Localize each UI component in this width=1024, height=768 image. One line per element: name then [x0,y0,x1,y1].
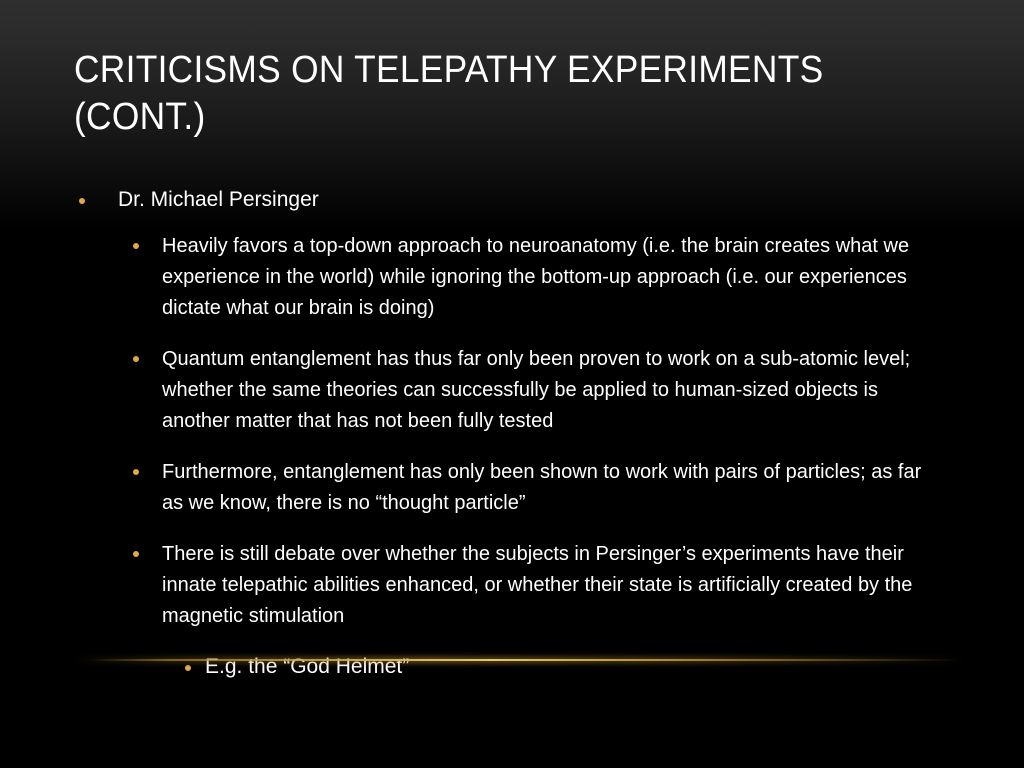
presentation-slide: Criticisms on Telepathy Experiments (con… [0,0,1024,768]
bullet-level1-text: Dr. Michael Persinger [118,185,934,215]
bullet-level2-item: Heavily favors a top-down approach to ne… [0,231,1024,324]
bullet-dot-icon [133,551,139,557]
slide-title: Criticisms on Telepathy Experiments (con… [74,47,892,141]
bullet-level2-item: Quantum entanglement has thus far only b… [0,344,1024,437]
bullet-dot-icon [79,198,85,204]
bullet-dot-icon [185,665,191,671]
bullet-level3-item: E.g. the “God Helmet” [0,652,1024,682]
bullet-dot-icon [133,469,139,475]
bullet-level3-text: E.g. the “God Helmet” [205,652,932,682]
bullet-level2-item: There is still debate over whether the s… [0,539,1024,632]
bullet-level2-item: Furthermore, entanglement has only been … [0,457,1024,519]
bullet-level2-text: Furthermore, entanglement has only been … [162,457,932,519]
bullet-level2-text: Heavily favors a top-down approach to ne… [162,231,932,324]
bullet-level1-item: Dr. Michael Persinger [0,185,1024,215]
bullet-dot-icon [133,356,139,362]
slide-body: Dr. Michael Persinger Heavily favors a t… [0,185,1024,682]
bullet-dot-icon [133,243,139,249]
bullet-level2-text: There is still debate over whether the s… [162,539,932,632]
bullet-level2-text: Quantum entanglement has thus far only b… [162,344,932,437]
